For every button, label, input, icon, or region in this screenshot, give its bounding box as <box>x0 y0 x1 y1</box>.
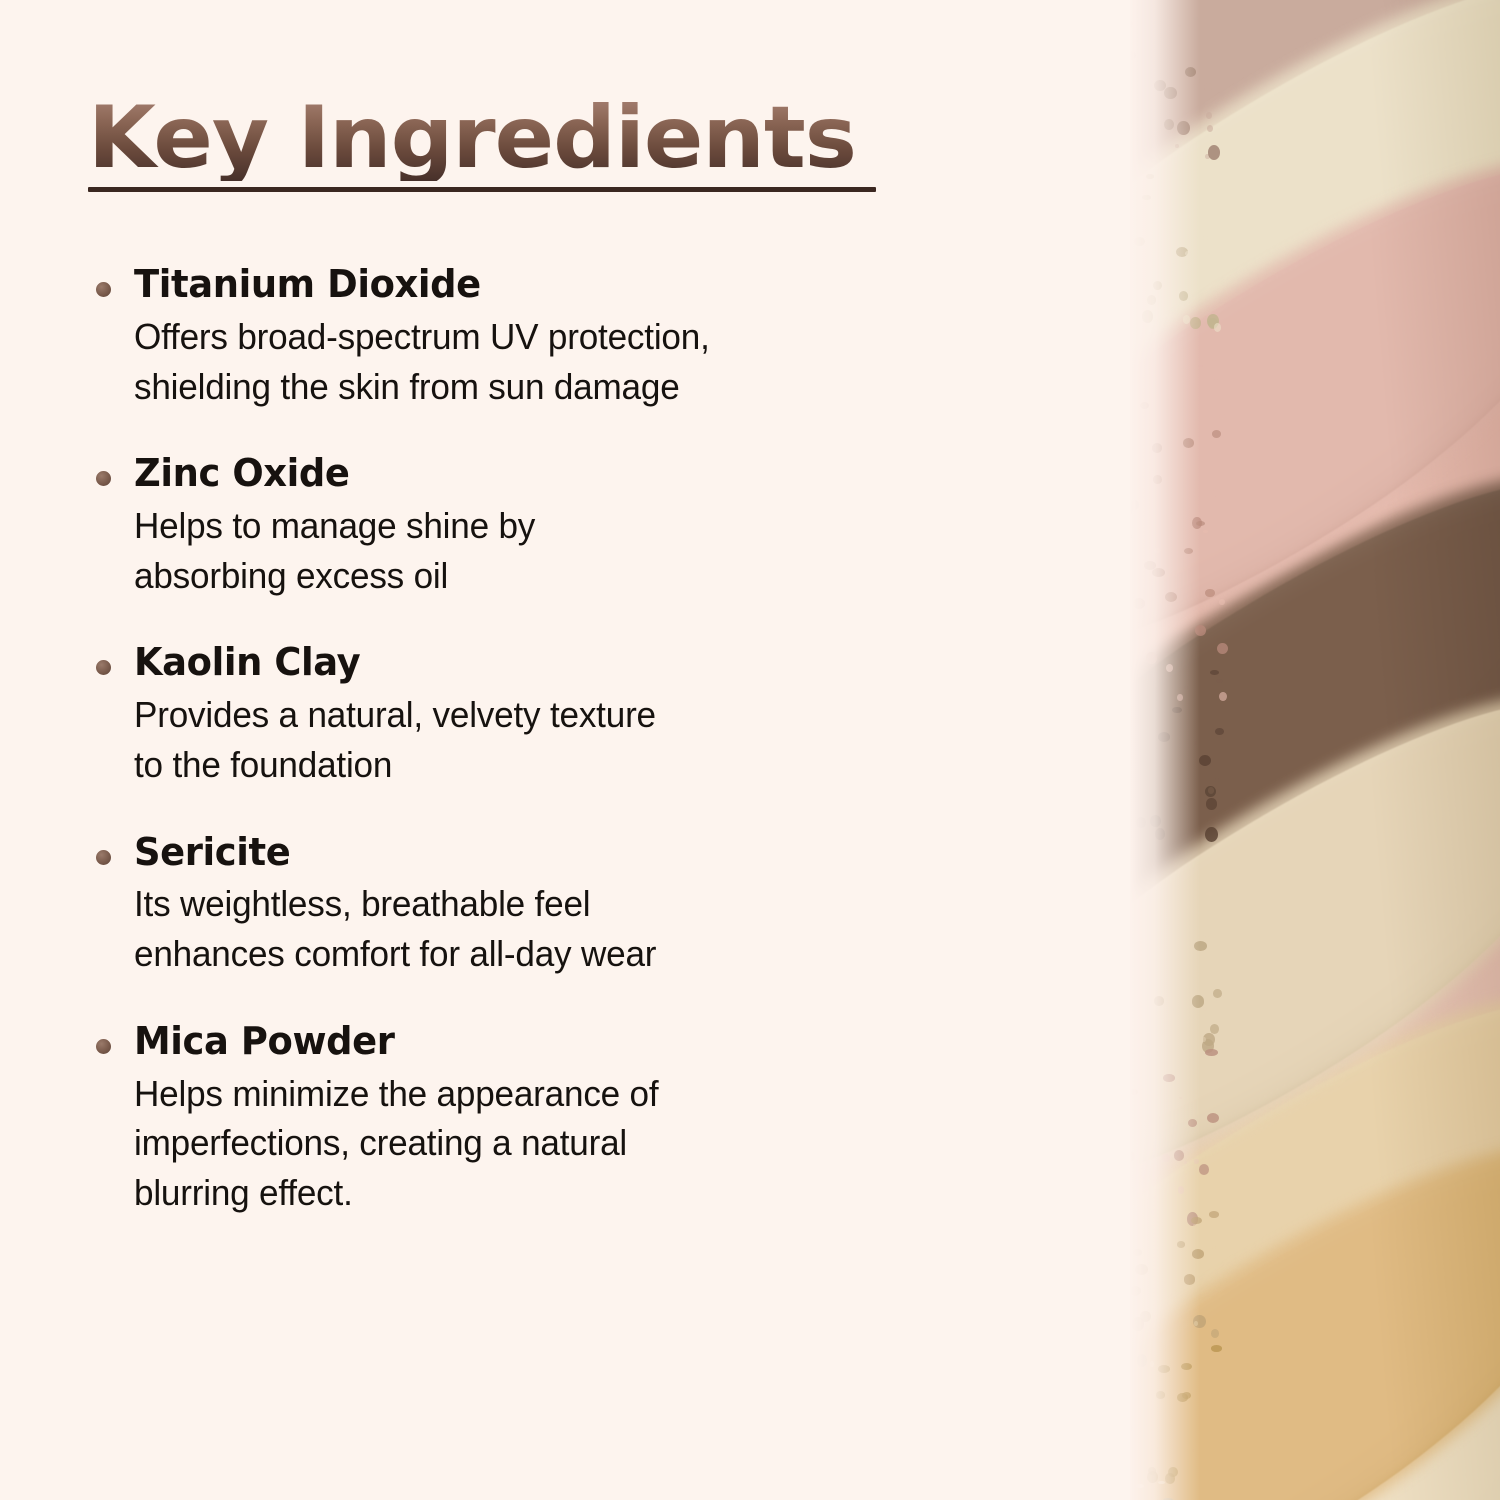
powder-particle <box>1157 1446 1160 1449</box>
powder-particle <box>1132 1317 1145 1330</box>
powder-particle <box>1215 778 1219 782</box>
powder-particle <box>1152 1148 1155 1151</box>
powder-particle <box>1196 521 1205 526</box>
powder-particle <box>1181 1363 1192 1370</box>
powder-particle <box>1181 923 1184 925</box>
bullet-dot-icon <box>96 471 111 486</box>
powder-particle <box>1134 237 1145 246</box>
powder-particle <box>1130 1286 1141 1297</box>
powder-particle <box>1163 515 1166 519</box>
powder-particle <box>1158 732 1170 742</box>
ingredient-name: Mica Powder <box>134 1019 964 1064</box>
ingredient-item: Mica PowderHelps minimize the appearance… <box>90 1019 990 1218</box>
powder-particle <box>1163 1074 1174 1082</box>
powder-particle <box>1175 144 1178 148</box>
powder-particle <box>1155 943 1161 948</box>
powder-particle <box>1150 815 1161 827</box>
powder-particle <box>1219 414 1226 419</box>
ingredient-item: Kaolin ClayProvides a natural, velvety t… <box>90 640 990 789</box>
powder-particle <box>1133 1249 1142 1256</box>
ingredient-description: Provides a natural, velvety texture to t… <box>134 690 969 789</box>
powder-particle <box>1149 143 1153 147</box>
ingredient-name: Kaolin Clay <box>134 640 964 685</box>
powder-particle <box>1136 817 1145 828</box>
ingredient-name: Titanium Dioxide <box>134 262 964 307</box>
powder-particle <box>1180 467 1185 472</box>
powder-particle <box>1185 251 1191 256</box>
ingredient-item: Titanium DioxideOffers broad-spectrum UV… <box>90 262 990 411</box>
powder-particle <box>1177 1393 1188 1401</box>
powder-particle <box>1142 287 1149 294</box>
powder-particle <box>1185 67 1196 77</box>
powder-particle <box>1147 1008 1153 1014</box>
powder-particle <box>1190 317 1201 329</box>
powder-particle <box>1192 78 1200 85</box>
ingredient-item: SericiteIts weightless, breathable feel … <box>90 830 990 979</box>
powder-particle <box>1195 895 1198 897</box>
powder-particle <box>1192 995 1205 1007</box>
powder-particle <box>1140 402 1149 409</box>
powder-particle <box>1178 1186 1184 1193</box>
content-column: Key Ingredients Titanium DioxideOffers b… <box>0 0 1040 1500</box>
powder-particle <box>1217 643 1228 654</box>
ingredient-description: Helps minimize the appearance of imperfe… <box>134 1069 969 1218</box>
powder-particle <box>1192 1449 1194 1451</box>
powder-particle <box>1215 728 1224 735</box>
powder-particle <box>1179 1097 1182 1099</box>
powder-particle <box>1213 989 1222 997</box>
ingredient-description: Helps to manage shine by absorbing exces… <box>134 501 969 600</box>
powder-particle <box>1204 83 1212 91</box>
ingredient-name: Sericite <box>134 830 964 875</box>
powder-particle <box>1130 212 1137 217</box>
ingredient-description: Its weightless, breathable feel enhances… <box>134 879 969 978</box>
powder-particle <box>1154 548 1161 553</box>
powder-particle <box>1219 599 1225 605</box>
powder-particle <box>1147 295 1156 304</box>
powder-particle <box>1177 694 1182 701</box>
powder-particle <box>1150 1361 1154 1367</box>
powder-particle <box>1162 1154 1170 1162</box>
powder-particle <box>1174 1150 1184 1160</box>
powder-particle <box>1143 1055 1145 1056</box>
powder-particle <box>1191 1217 1202 1224</box>
powder-particle <box>1156 1391 1166 1398</box>
powder-particle <box>1155 1342 1163 1346</box>
powder-particle <box>1206 798 1217 809</box>
ingredient-item: Zinc OxideHelps to manage shine by absor… <box>90 451 990 600</box>
powder-particle <box>1203 530 1208 533</box>
powder-particle <box>1135 256 1142 263</box>
powder-particle <box>1194 1321 1199 1326</box>
powder-particle <box>1130 1089 1138 1095</box>
powder-particle <box>1194 972 1201 978</box>
ingredients-list: Titanium DioxideOffers broad-spectrum UV… <box>90 262 990 1218</box>
powder-particle <box>1179 291 1188 301</box>
powder-particle <box>1144 561 1156 569</box>
page-title-block: Key Ingredients <box>88 95 888 192</box>
page-title: Key Ingredients <box>88 95 904 181</box>
powder-particle <box>1195 625 1206 636</box>
bullet-dot-icon <box>96 1039 111 1054</box>
powder-particle <box>1133 419 1139 424</box>
powder-bands-container <box>1130 0 1500 1500</box>
powder-particle <box>1146 652 1157 664</box>
powder-particle <box>1208 787 1215 794</box>
powder-particle <box>1164 119 1174 130</box>
powder-particle <box>1184 548 1193 554</box>
powder-particle <box>1214 323 1221 332</box>
powder-particle <box>1135 1264 1148 1275</box>
powder-particle <box>1159 1277 1165 1283</box>
bullet-dot-icon <box>96 850 111 865</box>
powder-particle <box>1199 1164 1209 1175</box>
powder-particle <box>1142 195 1151 201</box>
powder-particle <box>1156 1250 1161 1254</box>
powder-particle <box>1152 568 1164 577</box>
powder-particle <box>1172 707 1182 714</box>
powder-particle <box>1205 1049 1218 1056</box>
powder-particle <box>1213 488 1221 497</box>
bullet-dot-icon <box>96 282 111 297</box>
powder-particle <box>1154 996 1164 1005</box>
powder-particle <box>1194 1159 1198 1164</box>
powder-particle <box>1194 941 1207 951</box>
powder-swatch-image <box>1130 0 1500 1500</box>
powder-particle <box>1210 1024 1219 1034</box>
powder-particle <box>1190 1042 1194 1046</box>
powder-particle <box>1203 236 1208 240</box>
powder-particle <box>1135 694 1138 696</box>
powder-particle <box>1205 589 1214 597</box>
powder-particle <box>1152 443 1162 452</box>
powder-particle <box>1194 741 1198 744</box>
powder-particle <box>1219 692 1227 701</box>
powder-particle <box>1212 430 1221 437</box>
powder-particle <box>1130 1216 1136 1220</box>
powder-particle <box>1130 500 1139 511</box>
powder-particle <box>1192 1249 1204 1259</box>
ingredient-description: Offers broad-spectrum UV protection, shi… <box>134 312 969 411</box>
powder-particle <box>1151 59 1153 61</box>
ingredient-name: Zinc Oxide <box>134 451 964 496</box>
powder-particle <box>1210 670 1219 675</box>
powder-particle <box>1172 1416 1179 1422</box>
powder-particle <box>1212 359 1216 361</box>
powder-particle <box>1147 1042 1151 1044</box>
bullet-dot-icon <box>96 660 111 675</box>
powder-particle <box>1182 375 1187 378</box>
powder-particle <box>1184 1274 1196 1285</box>
powder-particle <box>1164 87 1176 99</box>
powder-particle <box>1153 475 1161 484</box>
powder-particle <box>1146 174 1155 179</box>
powder-particle <box>1211 1345 1222 1351</box>
key-ingredients-poster: Key Ingredients Titanium DioxideOffers b… <box>0 0 1500 1500</box>
